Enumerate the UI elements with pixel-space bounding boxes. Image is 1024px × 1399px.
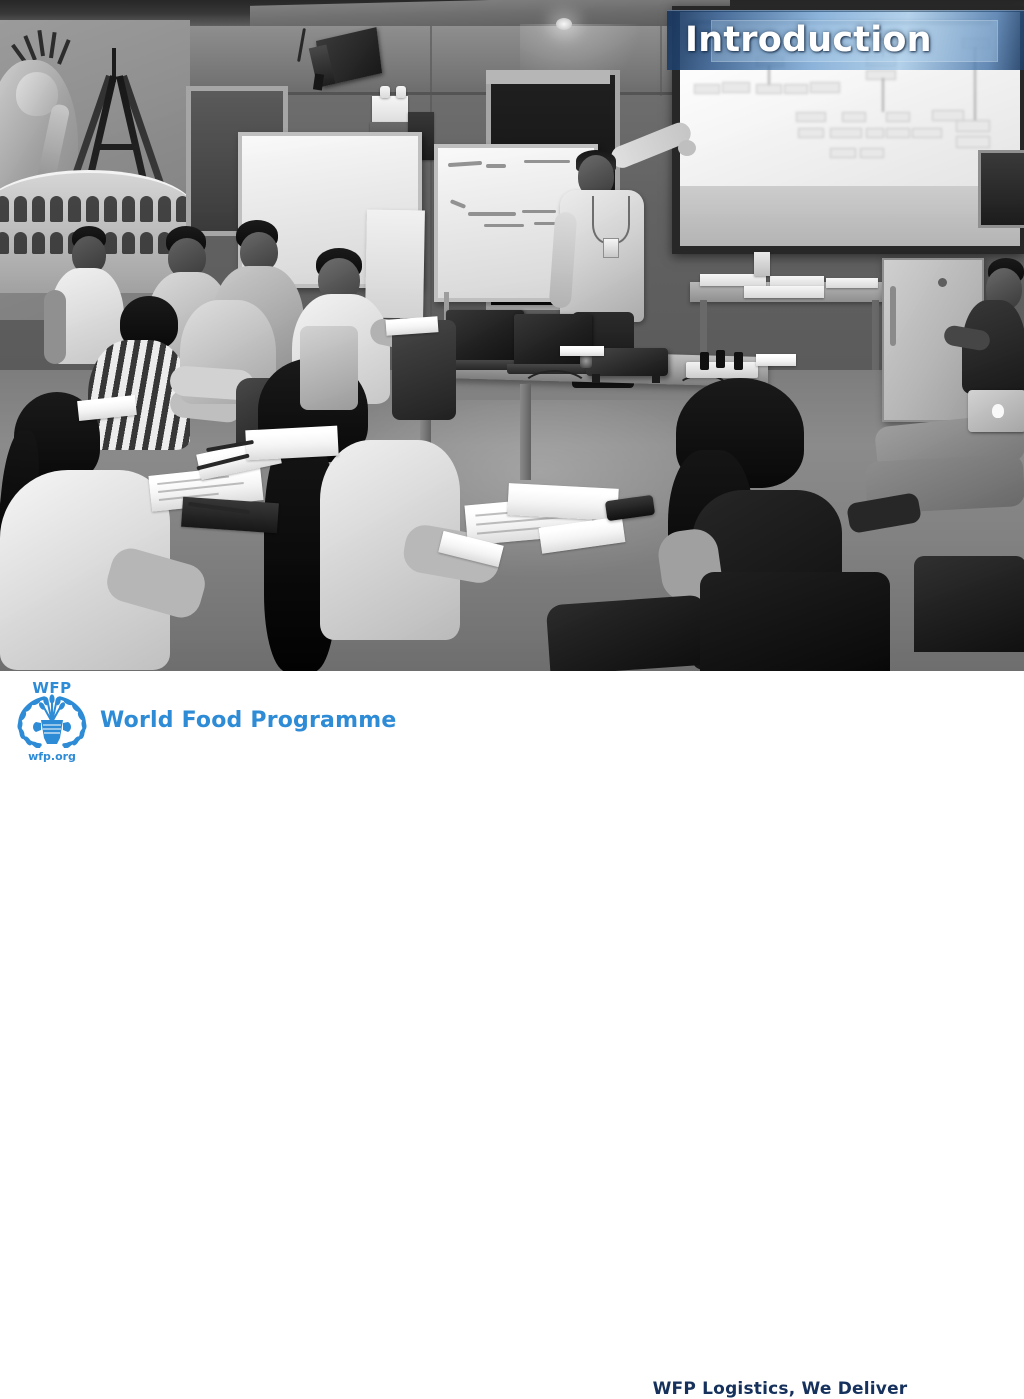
refrigerator-knob <box>938 278 947 287</box>
arch <box>122 196 135 222</box>
wall-poster <box>978 150 1024 228</box>
wall-seam <box>430 26 432 346</box>
wall-note <box>754 252 770 276</box>
org-node <box>956 120 990 132</box>
whiteboard-writing <box>486 164 506 168</box>
arch <box>0 196 9 222</box>
chair <box>700 572 890 671</box>
arch <box>14 232 27 254</box>
wfp-url: wfp.org <box>10 750 94 763</box>
arch <box>68 196 81 222</box>
org-node <box>860 148 884 158</box>
arch <box>32 196 45 222</box>
org-node <box>722 82 750 93</box>
wfp-hand-wheat-laurel-emblem-icon <box>14 694 90 748</box>
footer-tagline: WFP Logistics, We Deliver <box>560 1379 1000 1399</box>
arch <box>158 196 171 222</box>
flipchart-sheet <box>365 210 425 319</box>
projection-screen-base <box>680 186 1020 246</box>
whiteboard-writing <box>448 161 482 167</box>
chair <box>300 326 358 410</box>
org-node <box>784 84 808 94</box>
whiteboard-writing <box>484 224 524 227</box>
slide-footer: WFP <box>0 671 1024 768</box>
wfp-wordmark: World Food Programme <box>100 708 396 733</box>
org-node <box>694 84 720 94</box>
paper-stack <box>826 278 878 288</box>
refrigerator-handle <box>890 286 896 346</box>
org-node <box>796 112 826 122</box>
arch <box>50 232 63 254</box>
arch <box>140 196 153 222</box>
arch <box>104 232 117 254</box>
arch <box>0 232 9 254</box>
table-leg <box>872 300 879 370</box>
arch <box>104 196 117 222</box>
org-node <box>842 112 866 122</box>
chair <box>546 595 710 671</box>
wall-seam <box>660 26 662 96</box>
chair <box>914 556 1024 652</box>
slide-root: Introduction WFP <box>0 0 1024 768</box>
whiteboard-writing <box>450 199 466 209</box>
page-title: Introduction <box>685 20 932 60</box>
arch <box>32 232 45 254</box>
training-room-photo <box>0 0 1024 671</box>
arch <box>140 232 153 254</box>
paper <box>507 483 619 521</box>
chair <box>392 320 456 420</box>
arch <box>122 232 135 254</box>
whiteboard-writing <box>468 212 516 216</box>
paper <box>560 346 604 356</box>
whiteboard-writing <box>524 160 570 163</box>
projector-foot <box>652 374 660 383</box>
org-node <box>756 84 782 94</box>
arch <box>50 196 63 222</box>
org-node <box>956 136 990 148</box>
slide-title-banner: Introduction <box>667 10 1024 70</box>
id-badge <box>603 238 619 258</box>
org-node <box>830 148 856 158</box>
org-node <box>886 112 910 122</box>
org-node <box>866 128 884 138</box>
org-node <box>830 128 862 138</box>
projector-lens <box>580 354 592 368</box>
org-node <box>886 128 910 138</box>
bottle <box>380 86 390 98</box>
laptop-screen <box>446 310 524 360</box>
apple-logo-icon <box>992 404 1004 418</box>
power-plug <box>716 350 725 368</box>
org-node <box>912 128 942 138</box>
projector-foot <box>592 374 600 383</box>
wfp-logo: WFP <box>10 675 340 765</box>
cable <box>520 370 590 410</box>
paper-stack <box>744 286 824 298</box>
arch <box>14 196 27 222</box>
lanyard <box>592 196 630 244</box>
eiffel-deck <box>98 144 134 150</box>
presenter-hand <box>678 140 696 156</box>
power-plug <box>734 352 743 370</box>
power-plug <box>700 352 709 370</box>
arch <box>86 196 99 222</box>
org-node <box>798 128 824 138</box>
org-node <box>810 82 840 93</box>
wfp-emblem: WFP <box>10 677 94 763</box>
org-node <box>866 70 896 80</box>
bottle <box>396 86 406 98</box>
org-connector <box>882 78 884 112</box>
crown-spike <box>23 35 36 61</box>
paper <box>756 354 796 366</box>
ceiling-light-icon <box>556 18 572 30</box>
paper <box>245 426 338 461</box>
door-header <box>486 70 610 84</box>
crown-spike <box>37 30 45 56</box>
participant-arm <box>44 290 66 364</box>
whiteboard-writing <box>522 210 556 213</box>
